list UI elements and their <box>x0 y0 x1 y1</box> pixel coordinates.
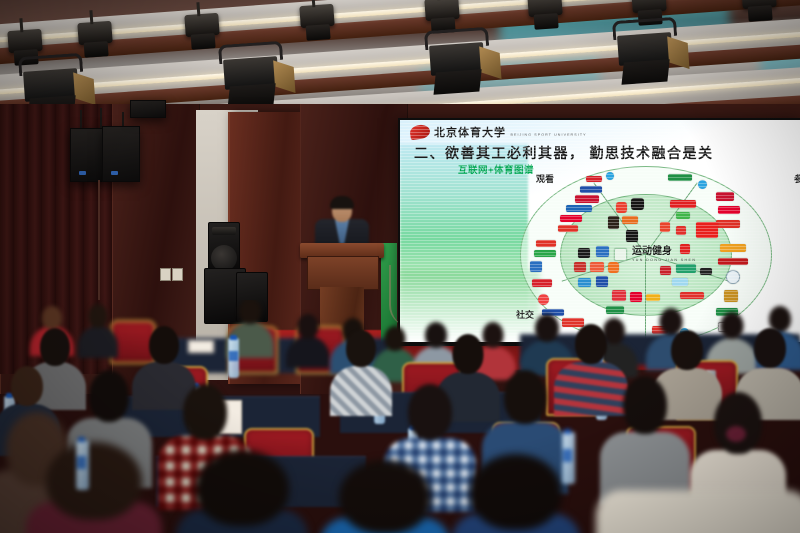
stage-light-icon <box>631 0 666 13</box>
brand-tile <box>586 176 602 182</box>
brand-tile <box>614 248 627 261</box>
audience-area <box>0 300 800 533</box>
wheel-sector-label-watch: 观看 <box>536 172 554 185</box>
person-head <box>11 366 43 406</box>
stage-light-icon <box>527 0 562 17</box>
brand-tile <box>726 270 740 284</box>
brand-tile <box>596 246 609 257</box>
audience-member-foreground <box>176 450 308 533</box>
brand-tile <box>608 216 619 229</box>
person-torso <box>596 490 800 533</box>
hanging-speaker <box>102 126 140 182</box>
brand-tile <box>566 205 592 212</box>
brand-tile <box>718 258 748 265</box>
person-head <box>504 370 546 424</box>
stage-light-icon <box>23 68 79 102</box>
stage-light-icon <box>424 0 459 21</box>
podium-front-panel <box>307 256 379 290</box>
stage-light-icon <box>77 21 112 45</box>
brand-tile <box>676 226 686 235</box>
brand-tile <box>631 198 644 210</box>
brand-tile <box>532 279 552 287</box>
brand-tile <box>608 262 619 273</box>
brand-tile <box>660 222 670 232</box>
brand-tile <box>534 250 556 257</box>
stage-light-icon <box>617 32 673 66</box>
brand-tile <box>575 195 599 203</box>
ceiling-projector <box>130 100 166 118</box>
stage-light-icon <box>299 4 334 28</box>
brand-tile <box>676 264 696 273</box>
stage-light-icon <box>7 29 42 53</box>
person-head <box>714 392 762 454</box>
person-head <box>575 324 607 364</box>
wheel-center-label: 运动健身 YUN DONG JIAN SHEN <box>632 242 696 262</box>
person-head <box>149 326 179 364</box>
brand-tile <box>716 220 740 228</box>
brand-tile <box>670 200 696 208</box>
person-head <box>40 328 70 366</box>
brand-tile <box>700 268 712 275</box>
wall-outlet <box>160 268 171 281</box>
audience-member <box>286 314 330 364</box>
brand-tile <box>578 248 590 258</box>
brand-tile <box>606 172 614 180</box>
wall-outlet <box>172 268 183 281</box>
audience-member-foreground <box>452 454 580 533</box>
stage-light-icon <box>429 42 485 76</box>
brand-tile <box>558 225 578 232</box>
person-head <box>89 370 129 422</box>
person-head <box>239 300 261 324</box>
cable <box>98 180 100 300</box>
person-head <box>754 328 786 368</box>
brand-tile <box>676 212 690 219</box>
person-torso <box>330 366 392 416</box>
brand-tile <box>590 262 604 272</box>
water-bottle <box>76 440 89 490</box>
wheel-center-label-pinyin: YUN DONG JIAN SHEN <box>632 258 696 262</box>
person-head <box>195 450 289 526</box>
university-name-cn: 北京体育大学 <box>434 127 506 139</box>
audience-member-foreground <box>320 460 450 533</box>
person-head <box>42 306 62 330</box>
person-head <box>183 384 227 440</box>
brand-tile <box>596 276 608 287</box>
conference-hall-photo: 北京体育大学 BEIJING SPORT UNIVERSITY 二、欲善其工必利… <box>0 0 800 533</box>
brand-tile <box>696 222 718 238</box>
person-head <box>453 334 484 374</box>
hanging-speaker <box>70 128 104 182</box>
stage-light-icon <box>741 0 776 9</box>
water-bottle <box>228 338 239 378</box>
brand-tile <box>560 215 582 222</box>
brand-tile <box>672 278 688 286</box>
brand-tile <box>668 174 692 181</box>
stage-light-icon <box>184 13 219 37</box>
person-head <box>346 330 376 367</box>
brand-tile <box>718 206 740 214</box>
brand-tile <box>574 262 586 272</box>
person-head <box>89 304 108 328</box>
brand-tile <box>580 186 602 193</box>
floor-speaker <box>208 222 240 272</box>
person-head <box>671 330 703 370</box>
brand-tile <box>716 192 734 201</box>
swoosh-logo-icon <box>409 124 431 141</box>
brand-tile <box>720 244 746 252</box>
audience-member-foreground <box>26 442 162 533</box>
water-bottle <box>562 432 575 484</box>
audience-member <box>330 330 392 410</box>
ceiling <box>0 0 800 118</box>
presenter-hair <box>330 196 354 209</box>
person-head <box>298 314 319 339</box>
brand-tile <box>616 202 627 213</box>
person-head <box>339 460 431 533</box>
wheel-sector-label-join: 参与 <box>794 172 800 185</box>
brand-tile <box>530 261 542 272</box>
person-head <box>470 454 562 530</box>
person-head <box>46 442 142 520</box>
slide-title: 二、欲善其工必利其器， 勤思技术融合是关 <box>414 143 800 163</box>
wheel-center-label-cn: 运动健身 <box>632 246 672 257</box>
person-head <box>623 376 667 434</box>
brand-tile <box>536 240 556 247</box>
brand-tile <box>698 180 707 189</box>
brand-tile <box>578 278 591 287</box>
audience-member-foreground <box>596 450 800 533</box>
brand-tile <box>680 292 704 299</box>
stage-light-icon <box>223 56 279 90</box>
brand-tile <box>626 230 638 242</box>
university-name-en: BEIJING SPORT UNIVERSITY <box>510 133 586 137</box>
brand-tile <box>660 266 671 275</box>
hair-accessory <box>726 426 746 442</box>
person-head <box>408 384 452 440</box>
person-torso <box>286 336 330 368</box>
university-logo: 北京体育大学 BEIJING SPORT UNIVERSITY <box>410 124 587 140</box>
brand-tile <box>622 216 638 224</box>
